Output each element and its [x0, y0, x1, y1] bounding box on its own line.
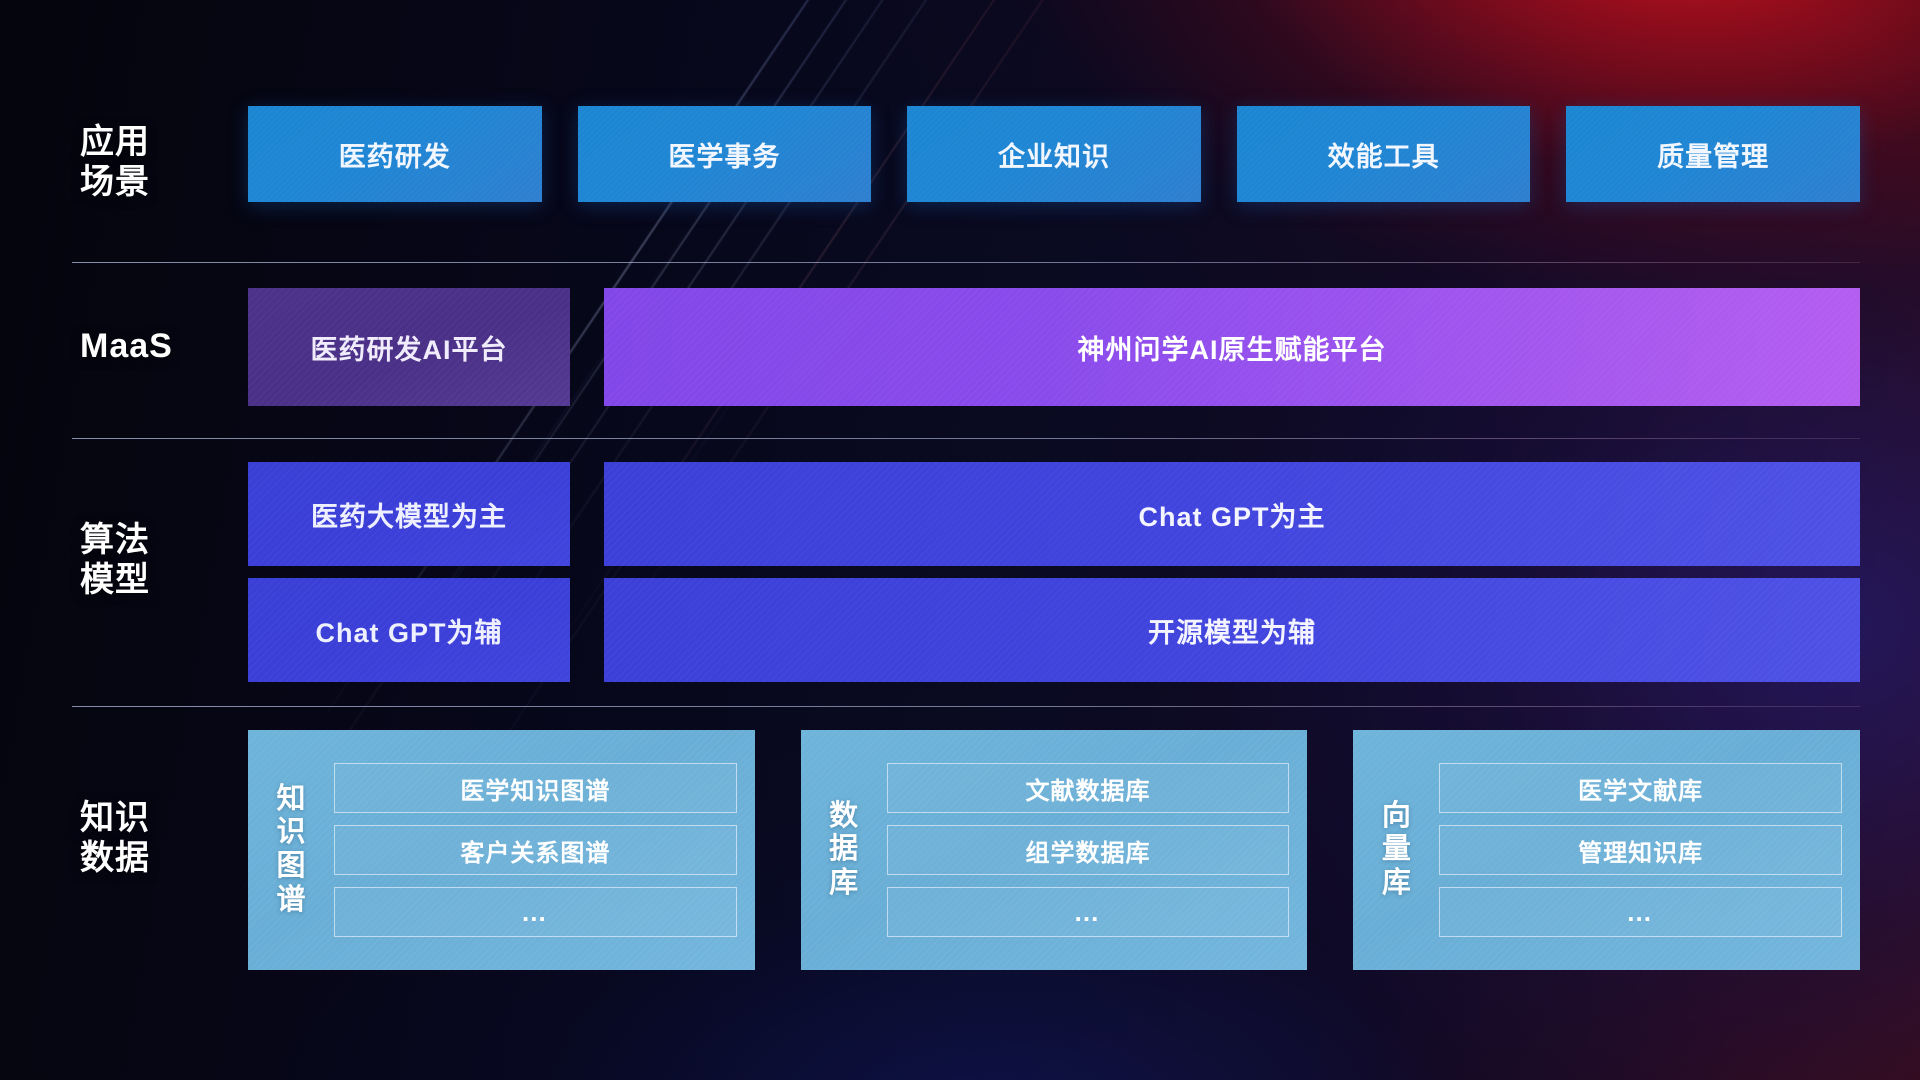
knowledge-item-list: 医学文献库 管理知识库 … [1439, 744, 1842, 956]
row-label-maas: MaaS [80, 326, 200, 366]
knowledge-item-more[interactable]: … [887, 887, 1290, 937]
knowledge-item-list: 文献数据库 组学数据库 … [887, 744, 1290, 956]
scenario-box-label: 企业知识 [998, 135, 1110, 174]
vertical-label-char: 量 [1382, 833, 1411, 867]
row-knowledge-data: 知识 数据 知 识 图 谱 医学知识图谱 客户关系图谱 … [0, 730, 1920, 970]
vertical-label-char: 图 [276, 850, 305, 884]
architecture-diagram-canvas: 应用 场景 医药研发 医学事务 企业知识 效能工具 质量管理 MaaS 医药研发… [0, 0, 1920, 1080]
vertical-label-char: 数 [829, 800, 858, 834]
vertical-label-char: 谱 [276, 884, 305, 918]
scenario-box-enterprise-knowledge[interactable]: 企业知识 [907, 106, 1201, 202]
scenario-box-label: 效能工具 [1328, 135, 1440, 174]
vertical-label-char: 识 [276, 816, 305, 850]
knowledge-panel-vertical-label: 向 量 库 [1363, 744, 1429, 956]
knowledge-panel-knowledge-graph[interactable]: 知 识 图 谱 医学知识图谱 客户关系图谱 … [248, 730, 755, 970]
knowledge-item-more[interactable]: … [1439, 887, 1842, 937]
algorithm-box-label: 医药大模型为主 [311, 495, 507, 534]
knowledge-item[interactable]: 客户关系图谱 [334, 825, 737, 875]
algorithm-box-label: Chat GPT为主 [1138, 495, 1325, 534]
knowledge-panel-vertical-label: 知 识 图 谱 [258, 744, 324, 956]
algorithm-secondary-line: Chat GPT为辅 开源模型为辅 [0, 578, 1920, 682]
algorithm-box-label: 开源模型为辅 [1148, 611, 1316, 650]
algorithm-box-chatgpt-secondary[interactable]: Chat GPT为辅 [248, 578, 570, 682]
vertical-label-char: 库 [1382, 867, 1411, 901]
algorithm-primary-line: 医药大模型为主 Chat GPT为主 [0, 462, 1920, 566]
scenario-box-medical-affairs[interactable]: 医学事务 [578, 106, 872, 202]
row-algorithm-models: 算法 模型 医药大模型为主 Chat GPT为主 Chat GPT为辅 开源模型… [0, 462, 1920, 692]
scenario-box-quality-management[interactable]: 质量管理 [1566, 106, 1860, 202]
scenario-box-label: 医学事务 [668, 135, 780, 174]
knowledge-panel-vector-store[interactable]: 向 量 库 医学文献库 管理知识库 … [1353, 730, 1860, 970]
knowledge-item-list: 医学知识图谱 客户关系图谱 … [334, 744, 737, 956]
row-label-line: 应用 [80, 122, 200, 162]
scenario-box-label: 医药研发 [339, 135, 451, 174]
divider-algorithm-knowledge [72, 706, 1860, 707]
row-application-scenarios: 应用 场景 医药研发 医学事务 企业知识 效能工具 质量管理 [0, 106, 1920, 216]
diagram-rows: 应用 场景 医药研发 医学事务 企业知识 效能工具 质量管理 MaaS 医药研发… [0, 0, 1920, 1080]
knowledge-panel-track: 知 识 图 谱 医学知识图谱 客户关系图谱 … 数 据 [248, 730, 1860, 970]
knowledge-item[interactable]: 医学知识图谱 [334, 763, 737, 813]
algorithm-box-chatgpt-primary[interactable]: Chat GPT为主 [604, 462, 1860, 566]
vertical-label-char: 据 [829, 833, 858, 867]
row-label-knowledge-data: 知识 数据 [80, 798, 200, 878]
scenario-box-label: 质量管理 [1657, 135, 1769, 174]
row-maas: MaaS 医药研发AI平台 神州问学AI原生赋能平台 [0, 288, 1920, 408]
maas-box-drug-rd-ai-platform[interactable]: 医药研发AI平台 [248, 288, 570, 406]
divider-maas-algorithm [72, 438, 1860, 439]
knowledge-panel-database[interactable]: 数 据 库 文献数据库 组学数据库 … [801, 730, 1308, 970]
row-label-line: 场景 [80, 162, 200, 202]
maas-box-label: 医药研发AI平台 [311, 328, 508, 367]
knowledge-item-more[interactable]: … [334, 887, 737, 937]
knowledge-item[interactable]: 组学数据库 [887, 825, 1290, 875]
vertical-label-char: 向 [1382, 800, 1411, 834]
vertical-label-char: 知 [276, 783, 305, 817]
algorithm-box-opensource-secondary[interactable]: 开源模型为辅 [604, 578, 1860, 682]
maas-box-shenzhou-wenxue-platform[interactable]: 神州问学AI原生赋能平台 [604, 288, 1860, 406]
knowledge-item[interactable]: 管理知识库 [1439, 825, 1842, 875]
maas-box-label: 神州问学AI原生赋能平台 [1078, 328, 1387, 367]
knowledge-item[interactable]: 医学文献库 [1439, 763, 1842, 813]
scenario-box-track: 医药研发 医学事务 企业知识 效能工具 质量管理 [248, 106, 1860, 202]
knowledge-panel-vertical-label: 数 据 库 [811, 744, 877, 956]
algorithm-box-label: Chat GPT为辅 [315, 611, 502, 650]
vertical-label-char: 库 [829, 867, 858, 901]
row-label-application-scenarios: 应用 场景 [80, 122, 200, 202]
algorithm-box-drug-llm-primary[interactable]: 医药大模型为主 [248, 462, 570, 566]
knowledge-item[interactable]: 文献数据库 [887, 763, 1290, 813]
divider-scenarios-maas [72, 262, 1860, 263]
row-label-line: 数据 [80, 838, 200, 878]
row-label-line: 知识 [80, 798, 200, 838]
scenario-box-drug-rd[interactable]: 医药研发 [248, 106, 542, 202]
scenario-box-efficiency-tools[interactable]: 效能工具 [1237, 106, 1531, 202]
row-label-line: MaaS [80, 326, 200, 366]
